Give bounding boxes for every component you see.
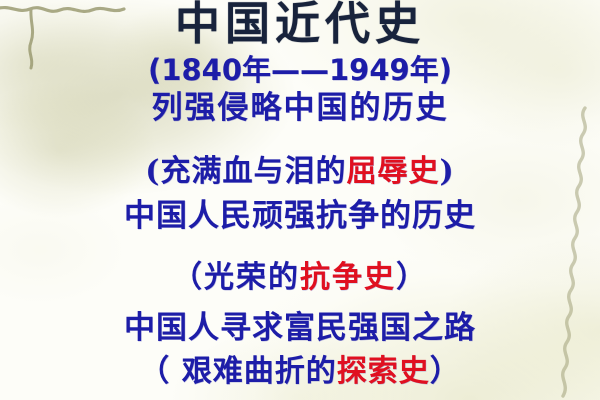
group-3-paren-line: （ 艰难曲折的探索史） xyxy=(0,352,600,392)
subtitle-text: 列强侵略中国的历史 xyxy=(0,88,600,128)
group-1-highlight: 屈辱史 xyxy=(347,154,440,189)
group-2-paren-open: （光荣的 xyxy=(172,260,300,295)
group-3-highlight: 探索史 xyxy=(337,354,430,389)
group-2-paren-close: ） xyxy=(396,260,428,295)
group-1-statement: 中国人民顽强抗争的历史 xyxy=(0,196,600,236)
group-1-paren-open: (充满血与泪的 xyxy=(145,154,346,189)
group-3-paren-close: ） xyxy=(430,354,461,389)
group-1-paren-line: (充满血与泪的屈辱史) xyxy=(0,152,600,192)
page-title: 中国近代史 xyxy=(0,0,600,50)
group-2-highlight: 抗争史 xyxy=(300,260,396,295)
group-2-paren-line: （光荣的抗争史） xyxy=(0,258,600,298)
slide-text-content: 中国近代史 (1840年——1949年) 列强侵略中国的历史 (充满血与泪的屈辱… xyxy=(0,0,600,400)
date-range-text: (1840年——1949年) xyxy=(0,52,600,88)
group-3-statement: 中国人寻求富民强国之路 xyxy=(0,308,600,348)
group-3-paren-open: （ 艰难曲折的 xyxy=(139,354,336,389)
slide-canvas: 中国近代史 (1840年——1949年) 列强侵略中国的历史 (充满血与泪的屈辱… xyxy=(0,0,600,400)
group-1-paren-close: ) xyxy=(440,154,455,189)
